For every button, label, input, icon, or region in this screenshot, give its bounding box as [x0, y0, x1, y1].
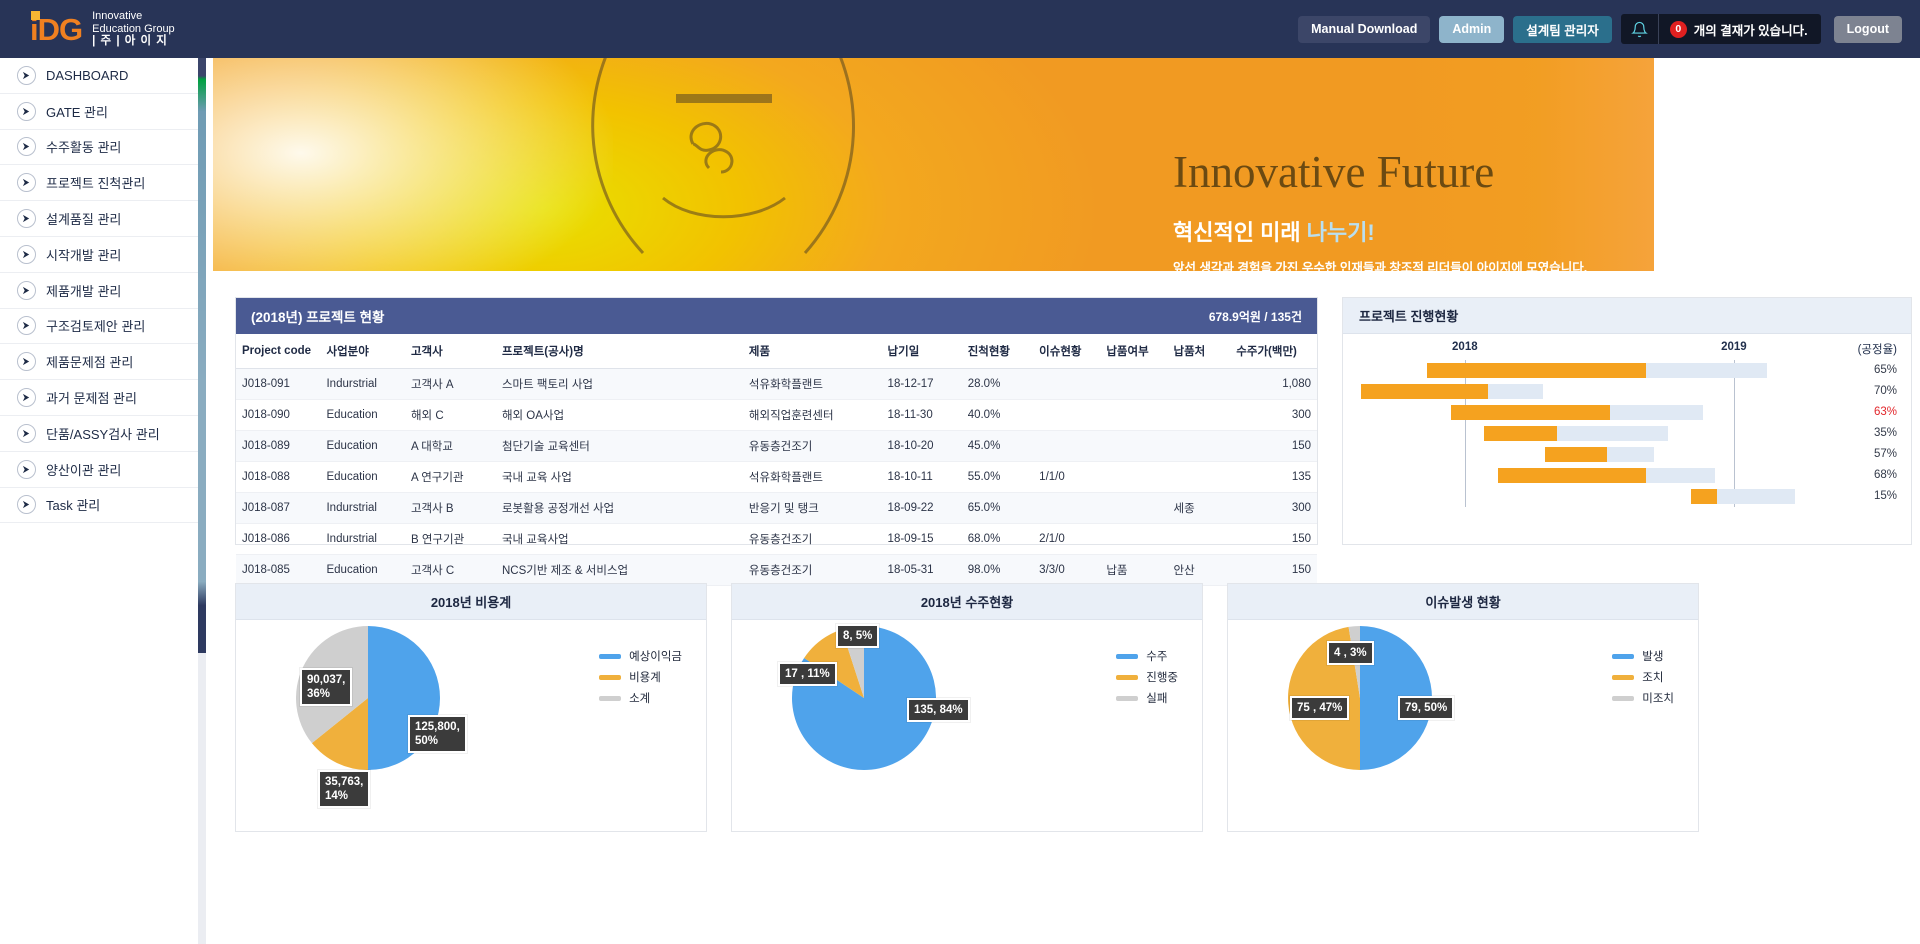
gantt-rows: 65%70%63%35%57%68%15%	[1343, 360, 1911, 507]
project-table-column-header: 수주가(백만)	[1230, 334, 1317, 369]
gantt-bar-row: 57%	[1343, 444, 1911, 465]
table-cell-name: 국내 교육사업	[496, 524, 743, 555]
table-cell-progress: 98.0%	[962, 555, 1033, 586]
gantt-axis-tick: 2018	[1452, 341, 1478, 353]
gantt-bar-progress	[1498, 468, 1646, 483]
project-card-title: (2018년) 프로젝트 현황	[251, 306, 384, 326]
arrow-right-icon	[17, 316, 36, 335]
gantt-progress-value: 15%	[1874, 489, 1897, 504]
legend-color-swatch	[1612, 696, 1634, 701]
table-cell-due: 18-09-22	[882, 493, 962, 524]
table-cell-progress: 55.0%	[962, 462, 1033, 493]
pie-data-label: 135, 84%	[907, 698, 970, 722]
arrow-right-icon	[17, 66, 36, 85]
table-cell-delivered	[1100, 431, 1167, 462]
pie-legend: 발생조치미조치	[1612, 648, 1674, 711]
table-cell-name: 스마트 팩토리 사업	[496, 369, 743, 400]
sidebar-item-label: 단품/ASSY검사 관리	[46, 424, 160, 443]
sidebar-item-5[interactable]: 설계품질 관리	[0, 201, 199, 237]
sidebar-item-label: GATE 관리	[46, 102, 108, 121]
table-cell-due: 18-09-15	[882, 524, 962, 555]
table-cell-product: 유동층건조기	[743, 431, 882, 462]
table-cell-amount: 150	[1230, 524, 1317, 555]
table-cell-progress: 65.0%	[962, 493, 1033, 524]
table-cell-issue: 3/3/0	[1033, 555, 1100, 586]
table-cell-dest: 세종	[1167, 493, 1230, 524]
gantt-progress-value: 35%	[1874, 426, 1897, 441]
gantt-chart: 20182019(공정율) 65%70%63%35%57%68%15%	[1343, 334, 1911, 544]
table-cell-client: 해외 C	[405, 400, 496, 431]
table-cell-due: 18-10-11	[882, 462, 962, 493]
legend-label: 실패	[1146, 690, 1167, 706]
gantt-axis-tick: 2019	[1721, 341, 1747, 353]
table-cell-product: 석유화학플랜트	[743, 369, 882, 400]
table-cell-product: 유동층건조기	[743, 524, 882, 555]
table-row[interactable]: J018-089EducationA 대학교첨단기술 교육센터유동층건조기18-…	[236, 431, 1317, 462]
pie-data-label: 4 , 3%	[1327, 641, 1374, 665]
sidebar-item-label: 과거 문제점 관리	[46, 388, 137, 407]
sidebar-scrollbar-thumb[interactable]	[198, 58, 206, 653]
table-cell-client: A 대학교	[405, 431, 496, 462]
pie-data-label: 79, 50%	[1398, 696, 1454, 720]
sidebar-item-label: 수주활동 관리	[46, 137, 121, 156]
table-cell-name: 첨단기술 교육센터	[496, 431, 743, 462]
orders-pie-body: 135, 84%17 , 11%8, 5%수주진행중실패	[732, 620, 1202, 832]
sidebar-item-4[interactable]: 프로젝트 진척관리	[0, 165, 199, 201]
pie-data-label: 35,763, 14%	[318, 770, 370, 808]
legend-color-swatch	[1612, 654, 1634, 659]
table-cell-field: Indurstrial	[320, 524, 404, 555]
arrow-right-icon	[17, 388, 36, 407]
gantt-bar-progress	[1451, 405, 1610, 420]
legend-label: 발생	[1642, 648, 1663, 664]
design-team-manager-button[interactable]: 설계팀 관리자	[1513, 16, 1611, 43]
gantt-bar-progress	[1484, 426, 1558, 441]
logo-mark: iDG	[30, 14, 82, 45]
table-cell-field: Education	[320, 431, 404, 462]
sidebar-item-9[interactable]: 제품문제점 관리	[0, 344, 199, 380]
project-card-header: (2018년) 프로젝트 현황 678.9억원 / 135건	[236, 298, 1317, 334]
sidebar-item-1[interactable]: DASHBOARD	[0, 58, 199, 94]
pie-legend: 예상이익금비용계소계	[599, 648, 682, 711]
table-cell-product: 해외직업훈련센터	[743, 400, 882, 431]
project-table-column-header: 납기일	[882, 334, 962, 369]
notification-message: 개의 결재가 있습니다.	[1694, 20, 1808, 39]
gantt-axis: 20182019(공정율)	[1343, 334, 1911, 360]
issues-pie-card: 이슈발생 현황 79, 50%75 , 47%4 , 3%발생조치미조치	[1227, 583, 1699, 832]
gantt-bar-progress	[1427, 363, 1646, 378]
table-cell-delivered	[1100, 369, 1167, 400]
table-cell-amount: 300	[1230, 400, 1317, 431]
orders-pie-card: 2018년 수주현황 135, 84%17 , 11%8, 5%수주진행중실패	[731, 583, 1203, 832]
sidebar-item-3[interactable]: 수주활동 관리	[0, 130, 199, 166]
table-cell-issue	[1033, 400, 1100, 431]
table-cell-issue	[1033, 431, 1100, 462]
table-cell-amount: 135	[1230, 462, 1317, 493]
legend-color-swatch	[599, 675, 621, 680]
legend-color-swatch	[599, 696, 621, 701]
table-cell-due: 18-10-20	[882, 431, 962, 462]
sidebar-item-label: 프로젝트 진척관리	[46, 173, 145, 192]
project-table-column-header: 고객사	[405, 334, 496, 369]
sidebar-item-11[interactable]: 단품/ASSY검사 관리	[0, 416, 199, 452]
gantt-bar-row: 35%	[1343, 423, 1911, 444]
table-cell-delivered: 납품	[1100, 555, 1167, 586]
pie-data-label: 17 , 11%	[778, 662, 837, 686]
gantt-progress-value: 70%	[1874, 384, 1897, 399]
project-card-summary: 678.9억원 / 135건	[1209, 308, 1302, 325]
table-cell-field: Education	[320, 400, 404, 431]
table-cell-progress: 68.0%	[962, 524, 1033, 555]
project-table-column-header: 진척현황	[962, 334, 1033, 369]
table-cell-progress: 40.0%	[962, 400, 1033, 431]
arrow-right-icon	[17, 460, 36, 479]
sidebar-item-8[interactable]: 구조검토제안 관리	[0, 309, 199, 345]
cost-pie-body: 125,800, 50%35,763, 14%90,037, 36%예상이익금비…	[236, 620, 706, 832]
banner-title: Innovative Future	[1173, 150, 1587, 195]
table-row[interactable]: J018-087Indurstrial고객사 B로봇활용 공정개선 사업반응기 …	[236, 493, 1317, 524]
bell-icon[interactable]	[1621, 14, 1659, 44]
pie-legend-item[interactable]: 진행중	[1116, 669, 1178, 685]
orders-pie-header: 2018년 수주현황	[732, 584, 1202, 620]
table-cell-product: 석유화학플랜트	[743, 462, 882, 493]
gantt-progress-value: 65%	[1874, 363, 1897, 378]
banner-subtitle-main: 혁신적인 미래	[1173, 220, 1307, 245]
table-row[interactable]: J018-085Education고객사 CNCS기반 제조 & 서비스업유동층…	[236, 555, 1317, 586]
table-cell-dest	[1167, 400, 1230, 431]
table-cell-issue: 2/1/0	[1033, 524, 1100, 555]
sidebar-item-label: 설계품질 관리	[46, 209, 121, 228]
issues-pie-body: 79, 50%75 , 47%4 , 3%발생조치미조치	[1228, 620, 1698, 832]
table-cell-name: 로봇활용 공정개선 사업	[496, 493, 743, 524]
pie-legend-item[interactable]: 발생	[1612, 648, 1674, 664]
cost-pie-card: 2018년 비용계 125,800, 50%35,763, 14%90,037,…	[235, 583, 707, 832]
table-cell-client: 고객사 B	[405, 493, 496, 524]
gantt-progress-value: 63%	[1874, 405, 1897, 420]
sidebar-item-label: 양산이관 관리	[46, 460, 121, 479]
table-cell-client: A 연구기관	[405, 462, 496, 493]
table-cell-dest	[1167, 431, 1230, 462]
gantt-bar-row: 63%	[1343, 402, 1911, 423]
table-cell-code: J018-090	[236, 400, 320, 431]
table-cell-delivered	[1100, 400, 1167, 431]
project-table-body: J018-091Indurstrial고객사 A스마트 팩토리 사업석유화학플랜…	[236, 369, 1317, 586]
table-cell-code: J018-091	[236, 369, 320, 400]
table-cell-name: NCS기반 제조 & 서비스업	[496, 555, 743, 586]
brand-logo[interactable]: iDG Innovative Education Group | 주 | 아 이…	[30, 10, 175, 48]
gantt-bar-row: 65%	[1343, 360, 1911, 381]
gantt-bar-progress	[1545, 447, 1607, 462]
table-cell-client: B 연구기관	[405, 524, 496, 555]
project-table-column-header: 제품	[743, 334, 882, 369]
table-row[interactable]: J018-088EducationA 연구기관국내 교육 사업석유화학플랜트18…	[236, 462, 1317, 493]
cost-pie-header: 2018년 비용계	[236, 584, 706, 620]
pie-data-label: 75 , 47%	[1290, 696, 1349, 720]
pie-data-label: 125,800, 50%	[408, 715, 467, 753]
table-cell-amount: 150	[1230, 555, 1317, 586]
arrow-right-icon	[17, 495, 36, 514]
pie-legend: 수주진행중실패	[1116, 648, 1178, 711]
sidebar-item-2[interactable]: GATE 관리	[0, 94, 199, 130]
table-cell-name: 국내 교육 사업	[496, 462, 743, 493]
project-table-column-header: 사업분야	[320, 334, 404, 369]
project-table-column-header: 납품여부	[1100, 334, 1167, 369]
gantt-bar-progress	[1361, 384, 1488, 399]
project-progress-card: 프로젝트 진행현황 20182019(공정율) 65%70%63%35%57%6…	[1342, 297, 1912, 545]
table-row[interactable]: J018-091Indurstrial고객사 A스마트 팩토리 사업석유화학플랜…	[236, 369, 1317, 400]
orders-pie-title: 2018년 수주현황	[921, 592, 1013, 611]
table-cell-field: Indurstrial	[320, 493, 404, 524]
project-table-column-header: 이슈현황	[1033, 334, 1100, 369]
banner-description-line-1: 앞선 생각과 경험을 가진 우수한 인재들과 창조적 리더들이 아이지에 모였습…	[1173, 259, 1587, 271]
logo-line-2: Education Group	[92, 23, 175, 35]
table-cell-code: J018-089	[236, 431, 320, 462]
logout-button[interactable]: Logout	[1834, 16, 1902, 43]
project-table-column-header: Project code	[236, 334, 320, 369]
logo-line-3: | 주 | 아 이 지	[92, 35, 175, 48]
table-row[interactable]: J018-090Education해외 C해외 OA사업해외직업훈련센터18-1…	[236, 400, 1317, 431]
sidebar-item-7[interactable]: 제품개발 관리	[0, 273, 199, 309]
logo-wordmark: Innovative Education Group | 주 | 아 이 지	[92, 10, 175, 48]
arrow-right-icon	[17, 352, 36, 371]
legend-label: 진행중	[1146, 669, 1178, 685]
table-cell-amount: 1,080	[1230, 369, 1317, 400]
gantt-bar-row: 15%	[1343, 486, 1911, 507]
gantt-progress-column-header: (공정율)	[1858, 341, 1897, 357]
table-cell-progress: 28.0%	[962, 369, 1033, 400]
legend-label: 미조치	[1642, 690, 1674, 706]
table-cell-field: Education	[320, 555, 404, 586]
sidebar-item-label: DASHBOARD	[46, 68, 128, 83]
arrow-right-icon	[17, 281, 36, 300]
banner-description: 앞선 생각과 경험을 가진 우수한 인재들과 창조적 리더들이 아이지에 모였습…	[1173, 259, 1587, 271]
table-row[interactable]: J018-086IndurstrialB 연구기관국내 교육사업유동층건조기18…	[236, 524, 1317, 555]
cost-pie-title: 2018년 비용계	[431, 592, 511, 611]
gantt-bar-row: 68%	[1343, 465, 1911, 486]
banner-subtitle-accent: 나누기!	[1307, 220, 1375, 245]
sidebar-item-6[interactable]: 시작개발 관리	[0, 237, 199, 273]
legend-label: 비용계	[629, 669, 661, 685]
pie-legend-item[interactable]: 예상이익금	[599, 648, 682, 664]
sidebar-item-label: 구조검토제안 관리	[46, 316, 145, 335]
pie-data-label: 90,037, 36%	[300, 668, 352, 706]
legend-label: 조치	[1642, 669, 1663, 685]
table-cell-dest	[1167, 462, 1230, 493]
pie-data-label: 8, 5%	[836, 624, 879, 648]
header-actions: Manual Download Admin 설계팀 관리자 0 개의 결재가 있…	[1298, 14, 1902, 44]
arrow-right-icon	[17, 137, 36, 156]
table-cell-field: Education	[320, 462, 404, 493]
pie-legend-item[interactable]: 미조치	[1612, 690, 1674, 706]
table-cell-issue: 1/1/0	[1033, 462, 1100, 493]
lightbulb-illustration	[513, 58, 933, 271]
gantt-progress-value: 57%	[1874, 447, 1897, 462]
table-cell-progress: 45.0%	[962, 431, 1033, 462]
notification-count-badge: 0	[1670, 21, 1687, 38]
table-cell-due: 18-11-30	[882, 400, 962, 431]
table-cell-delivered	[1100, 462, 1167, 493]
legend-color-swatch	[1116, 675, 1138, 680]
table-cell-amount: 300	[1230, 493, 1317, 524]
table-cell-delivered	[1100, 493, 1167, 524]
gantt-progress-value: 68%	[1874, 468, 1897, 483]
table-cell-product: 반응기 및 탱크	[743, 493, 882, 524]
legend-label: 소계	[629, 690, 650, 706]
project-table: Project code사업분야고객사프로젝트(공사)명제품납기일진척현황이슈현…	[236, 334, 1317, 586]
gantt-bar-row: 70%	[1343, 381, 1911, 402]
arrow-right-icon	[17, 424, 36, 443]
table-cell-code: J018-085	[236, 555, 320, 586]
sidebar-navigation: DASHBOARDGATE 관리수주활동 관리프로젝트 진척관리설계품질 관리시…	[0, 58, 200, 944]
table-cell-dest: 안산	[1167, 555, 1230, 586]
table-cell-due: 18-05-31	[882, 555, 962, 586]
gantt-card-title: 프로젝트 진행현황	[1359, 306, 1458, 325]
table-cell-client: 고객사 C	[405, 555, 496, 586]
project-table-head: Project code사업분야고객사프로젝트(공사)명제품납기일진척현황이슈현…	[236, 334, 1317, 369]
legend-color-swatch	[1612, 675, 1634, 680]
sidebar-item-label: 제품문제점 관리	[46, 352, 133, 371]
project-status-card: (2018년) 프로젝트 현황 678.9억원 / 135건 Project c…	[235, 297, 1318, 545]
pie-legend-item[interactable]: 실패	[1116, 690, 1178, 706]
table-cell-due: 18-12-17	[882, 369, 962, 400]
admin-button[interactable]: Admin	[1439, 16, 1504, 43]
arrow-right-icon	[17, 102, 36, 121]
pie-legend-item[interactable]: 조치	[1612, 669, 1674, 685]
sidebar-item-12[interactable]: 양산이관 관리	[0, 452, 199, 488]
sidebar-item-13[interactable]: Task 관리	[0, 488, 199, 524]
table-cell-amount: 150	[1230, 431, 1317, 462]
issues-pie-header: 이슈발생 현황	[1228, 584, 1698, 620]
issues-pie-title: 이슈발생 현황	[1425, 592, 1500, 611]
arrow-right-icon	[17, 245, 36, 264]
table-cell-name: 해외 OA사업	[496, 400, 743, 431]
manual-download-button[interactable]: Manual Download	[1298, 16, 1430, 43]
project-table-column-header: 납품처	[1167, 334, 1230, 369]
sidebar-item-label: 제품개발 관리	[46, 281, 121, 300]
banner-subtitle: 혁신적인 미래 나누기!	[1173, 215, 1587, 247]
table-cell-field: Indurstrial	[320, 369, 404, 400]
sidebar-item-label: 시작개발 관리	[46, 245, 121, 264]
pie-legend-item[interactable]: 비용계	[599, 669, 682, 685]
table-cell-dest	[1167, 369, 1230, 400]
table-cell-code: J018-086	[236, 524, 320, 555]
arrow-right-icon	[17, 209, 36, 228]
top-header-bar: iDG Innovative Education Group | 주 | 아 이…	[0, 0, 1920, 58]
sidebar-item-label: Task 관리	[46, 495, 100, 514]
gantt-bar-progress	[1691, 489, 1717, 504]
table-cell-code: J018-087	[236, 493, 320, 524]
project-table-header-row: Project code사업분야고객사프로젝트(공사)명제품납기일진척현황이슈현…	[236, 334, 1317, 369]
table-cell-issue	[1033, 493, 1100, 524]
table-cell-product: 유동층건조기	[743, 555, 882, 586]
banner-text-block: Innovative Future 혁신적인 미래 나누기! 앞선 생각과 경험…	[1173, 150, 1587, 271]
table-cell-issue	[1033, 369, 1100, 400]
logo-line-1: Innovative	[92, 10, 175, 22]
sidebar-item-10[interactable]: 과거 문제점 관리	[0, 380, 199, 416]
gantt-card-header: 프로젝트 진행현황	[1343, 298, 1911, 334]
table-cell-client: 고객사 A	[405, 369, 496, 400]
legend-color-swatch	[599, 654, 621, 659]
legend-label: 예상이익금	[629, 648, 682, 664]
pie-legend-item[interactable]: 소계	[599, 690, 682, 706]
legend-color-swatch	[1116, 696, 1138, 701]
table-cell-code: J018-088	[236, 462, 320, 493]
arrow-right-icon	[17, 173, 36, 192]
pie-legend-item[interactable]: 수주	[1116, 648, 1178, 664]
logo-accent-square	[31, 11, 40, 20]
table-cell-delivered	[1100, 524, 1167, 555]
legend-label: 수주	[1146, 648, 1167, 664]
hero-banner: Innovative Future 혁신적인 미래 나누기! 앞선 생각과 경험…	[213, 58, 1654, 271]
project-table-column-header: 프로젝트(공사)명	[496, 334, 743, 369]
table-cell-dest	[1167, 524, 1230, 555]
notification-panel[interactable]: 0 개의 결재가 있습니다.	[1621, 14, 1821, 44]
legend-color-swatch	[1116, 654, 1138, 659]
